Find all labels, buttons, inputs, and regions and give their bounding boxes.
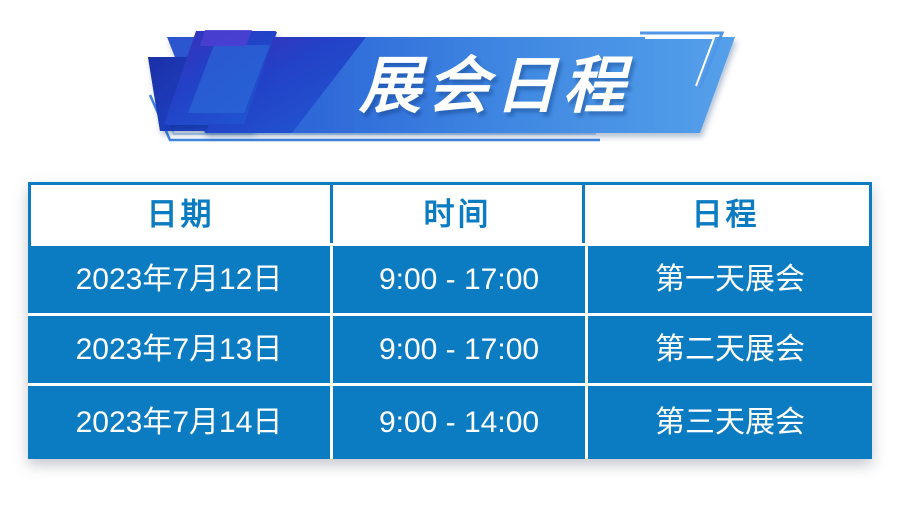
table-row: 2023年7月12日 9:00 - 17:00 第一天展会	[28, 246, 872, 316]
table-row: 2023年7月13日 9:00 - 17:00 第二天展会	[28, 316, 872, 386]
cell-date: 2023年7月14日	[28, 386, 333, 459]
schedule-table: 日期 时间 日程 2023年7月12日 9:00 - 17:00 第一天展会 2…	[28, 182, 872, 459]
cell-time: 9:00 - 14:00	[333, 386, 588, 459]
cell-time: 9:00 - 17:00	[333, 316, 588, 383]
cell-date: 2023年7月13日	[28, 316, 333, 383]
cell-schedule: 第一天展会	[588, 246, 872, 313]
cell-date: 2023年7月12日	[28, 246, 333, 313]
column-header-date: 日期	[31, 185, 333, 243]
column-header-time: 时间	[333, 185, 585, 243]
page-title: 展会日程	[325, 47, 665, 127]
banner: 展会日程	[0, 0, 900, 170]
table-row: 2023年7月14日 9:00 - 14:00 第三天展会	[28, 386, 872, 459]
cell-schedule: 第三天展会	[588, 386, 872, 459]
table-header-row: 日期 时间 日程	[28, 182, 872, 246]
cell-schedule: 第二天展会	[588, 316, 872, 383]
banner-top-tab	[200, 30, 252, 46]
cell-time: 9:00 - 17:00	[333, 246, 588, 313]
column-header-schedule: 日程	[585, 185, 866, 243]
